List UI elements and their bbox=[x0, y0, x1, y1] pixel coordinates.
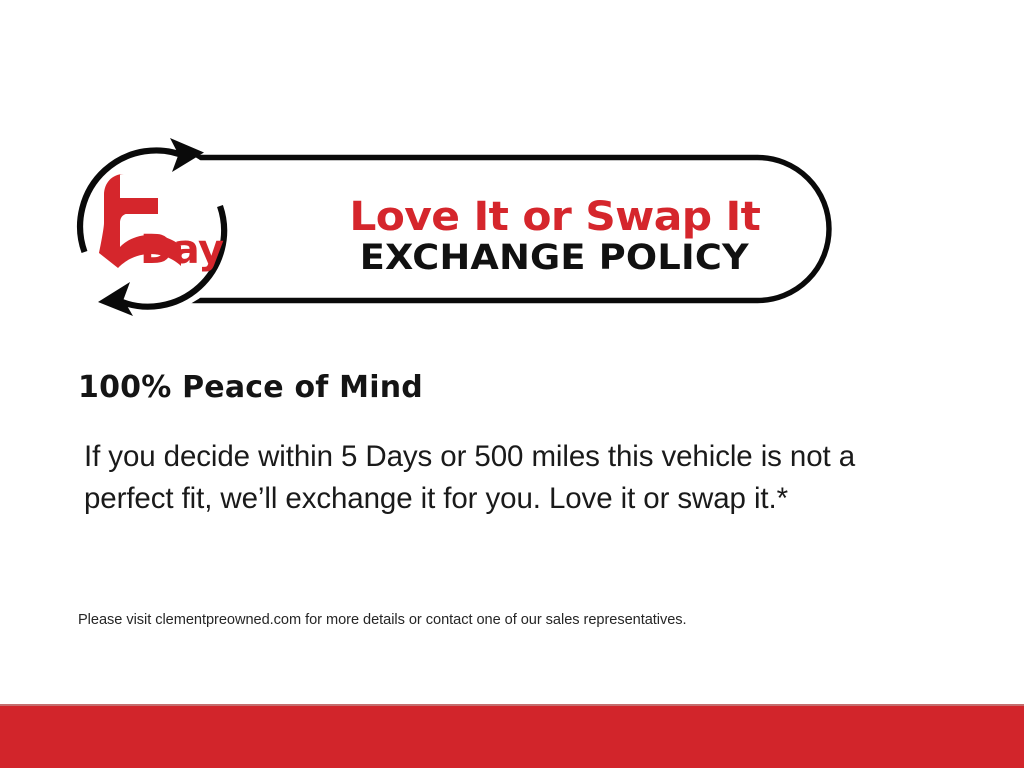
fine-print: Please visit clementpreowned.com for mor… bbox=[78, 610, 938, 630]
badge-graphic: Day bbox=[62, 132, 842, 320]
headline: 100% Peace of Mind bbox=[78, 370, 423, 405]
day-label-text: Day bbox=[140, 227, 224, 273]
policy-slide: Day Love It or Swap It EXCHANGE POLICY 1… bbox=[0, 0, 1024, 768]
policy-paragraph: If you decide within 5 Days or 500 miles… bbox=[84, 436, 874, 520]
exchange-policy-badge: Day Love It or Swap It EXCHANGE POLICY bbox=[62, 132, 842, 320]
footer-bar bbox=[0, 706, 1024, 768]
